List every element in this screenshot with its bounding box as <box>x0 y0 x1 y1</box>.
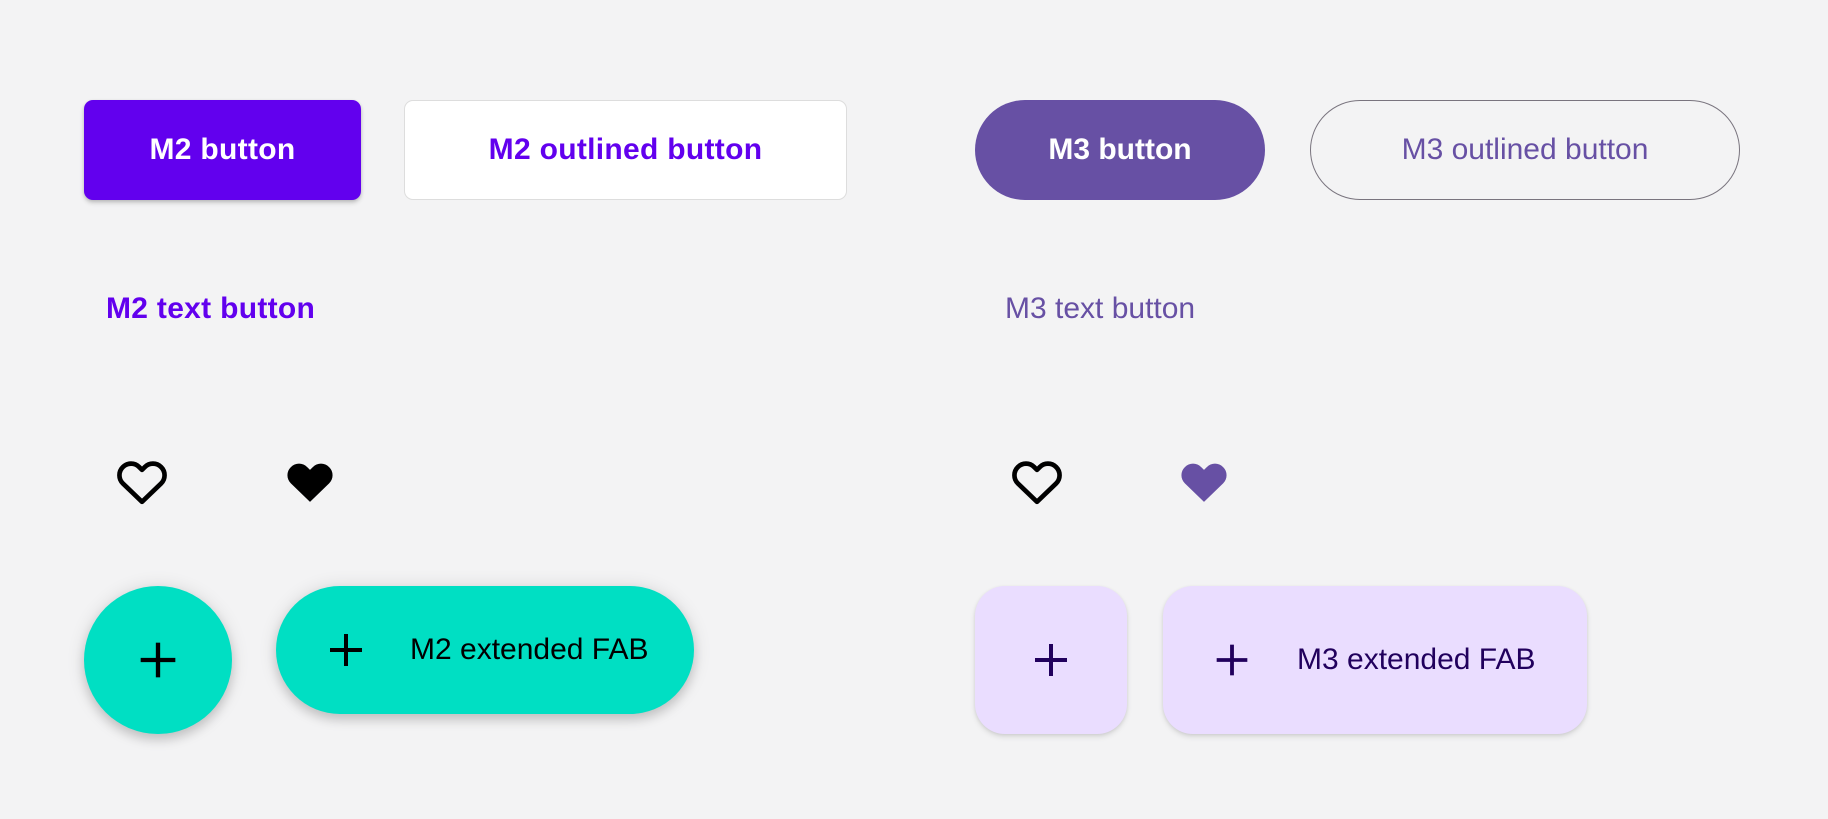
m3-text-button[interactable]: M3 text button <box>1005 292 1195 326</box>
m2-filled-button[interactable]: M2 button <box>84 100 361 200</box>
m3-outlined-button-label: M3 outlined button <box>1402 133 1649 167</box>
m3-fab-button[interactable] <box>975 586 1127 734</box>
m3-extended-fab-label: M3 extended FAB <box>1297 643 1535 677</box>
heart-filled-icon <box>282 454 338 513</box>
m3-filled-button-label: M3 button <box>1048 133 1191 167</box>
m2-heart-outline-button[interactable] <box>114 455 170 511</box>
heart-outline-icon <box>1009 454 1065 513</box>
heart-outline-icon <box>114 454 170 513</box>
m2-text-button[interactable]: M2 text button <box>106 292 315 326</box>
m2-fab-button[interactable] <box>84 586 232 734</box>
m2-filled-button-label: M2 button <box>150 133 296 167</box>
m2-extended-fab-button[interactable]: M2 extended FAB <box>276 586 694 714</box>
m3-heart-outline-button[interactable] <box>1009 455 1065 511</box>
m2-heart-filled-button[interactable] <box>282 455 338 511</box>
m3-filled-button[interactable]: M3 button <box>975 100 1265 200</box>
m2-outlined-button[interactable]: M2 outlined button <box>404 100 847 200</box>
component-showcase: M2 button M2 outlined button M3 button M… <box>0 0 1828 819</box>
m2-extended-fab-label: M2 extended FAB <box>410 633 648 667</box>
m2-outlined-button-label: M2 outlined button <box>489 133 763 167</box>
plus-icon <box>1209 637 1255 683</box>
m3-extended-fab-button[interactable]: M3 extended FAB <box>1163 586 1587 734</box>
m3-outlined-button[interactable]: M3 outlined button <box>1310 100 1740 200</box>
plus-icon <box>1027 636 1075 684</box>
plus-icon <box>322 626 370 674</box>
plus-icon <box>132 634 184 686</box>
m3-heart-filled-button[interactable] <box>1176 455 1232 511</box>
heart-filled-icon <box>1176 454 1232 513</box>
